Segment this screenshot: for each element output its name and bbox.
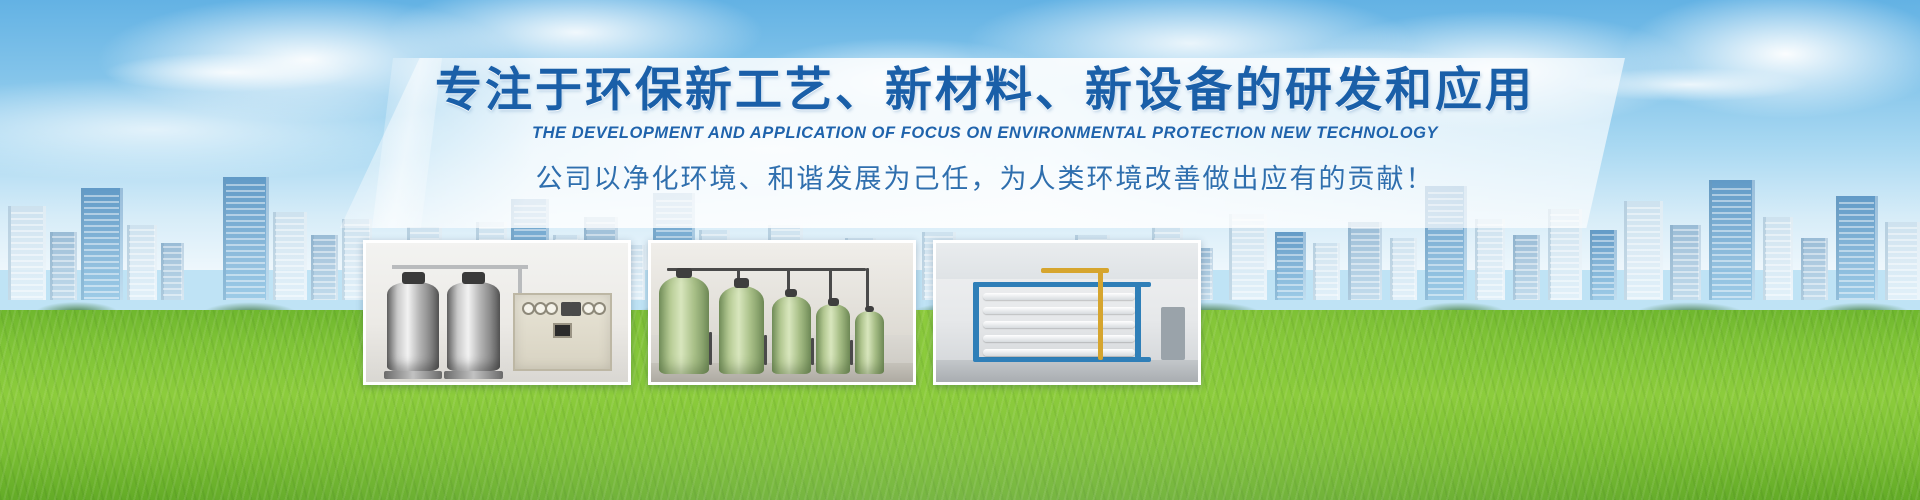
product-photo-3[interactable]: industrial reverse osmosis membrane skid… [933, 240, 1201, 385]
frp-vessel [659, 276, 709, 373]
plant-ceiling [936, 243, 1198, 279]
skid-frame [973, 357, 1151, 362]
pipe-header [667, 268, 866, 271]
pipe-riser [518, 265, 522, 296]
frp-vessel [816, 304, 850, 374]
frp-vessel [772, 296, 811, 374]
skid-frame [1135, 282, 1141, 360]
control-cabinet [513, 293, 613, 371]
product-photo-2[interactable]: row of green FRP filter vessels with pip… [648, 240, 916, 385]
valve-stem [811, 338, 814, 366]
frp-vessel [855, 311, 884, 374]
plant-floor [936, 360, 1198, 382]
yellow-pipe [1041, 268, 1109, 273]
skid-frame [973, 282, 1151, 287]
hero-banner: 专注于环保新工艺、新材料、新设备的研发和应用 THE DEVELOPMENT A… [0, 0, 1920, 500]
valve-stem [850, 340, 853, 365]
frp-vessel [719, 286, 764, 374]
gauge-icon [593, 302, 606, 315]
switch-icon [570, 302, 581, 316]
gauge-icon [545, 302, 558, 315]
skid-frame [973, 282, 979, 360]
ro-membrane [983, 321, 1135, 328]
ro-membrane [983, 335, 1135, 342]
product-photo-1-alt: stainless steel twin-tank water treatmen… [366, 243, 367, 244]
equipment-column [1161, 307, 1185, 360]
valve-stem [764, 335, 767, 366]
banner-headline: 专注于环保新工艺、新材料、新设备的研发和应用 [340, 62, 1630, 117]
yellow-pipe [1098, 268, 1103, 360]
banner-tagline: 公司以净化环境、和谐发展为己任，为人类环境改善做出应有的贡献！ [340, 157, 1630, 196]
ro-membrane [983, 307, 1135, 314]
pipe-run [392, 265, 528, 269]
valve-stem [709, 332, 712, 365]
steel-tank [447, 282, 499, 371]
ro-membrane [983, 349, 1135, 356]
product-photo-1[interactable]: stainless steel twin-tank water treatmen… [363, 240, 631, 385]
display-panel [553, 323, 572, 338]
product-photo-strip: stainless steel twin-tank water treatmen… [363, 240, 1201, 385]
banner-text-block: 专注于环保新工艺、新材料、新设备的研发和应用 THE DEVELOPMENT A… [340, 62, 1630, 196]
ro-membrane [983, 293, 1135, 300]
steel-tank [387, 282, 439, 371]
banner-subheadline: THE DEVELOPMENT AND APPLICATION OF FOCUS… [340, 124, 1630, 143]
